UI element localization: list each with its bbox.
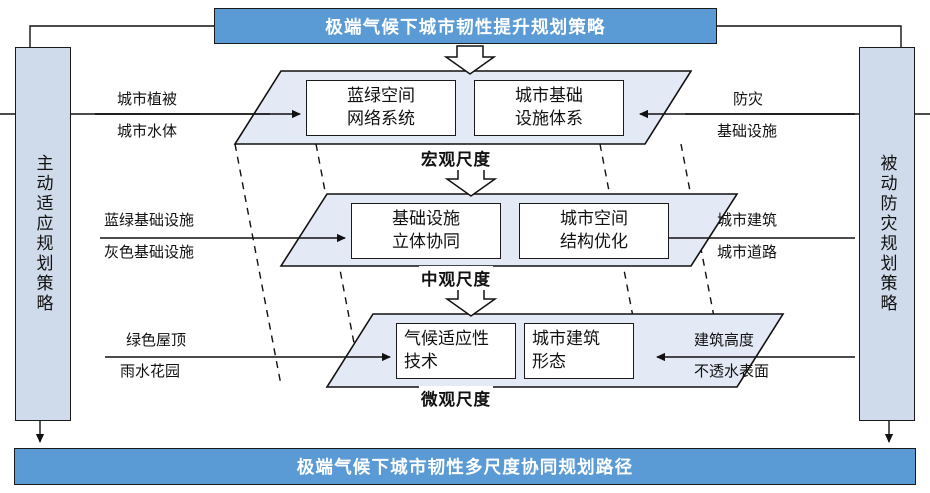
- micro-left-box-line2: 技术: [404, 351, 438, 374]
- meso-right-input-top: 城市建筑: [717, 209, 777, 230]
- macro-right-box: 城市基础 设施体系: [474, 80, 624, 136]
- meso-scale-label: 中观尺度: [419, 266, 493, 290]
- macro-right-box-line2: 设施体系: [515, 108, 583, 131]
- meso-left-box: 基础设施 立体协同: [351, 203, 501, 259]
- meso-left-box-line1: 基础设施: [392, 208, 460, 231]
- macro-right-input-bottom: 基础设施: [717, 120, 777, 141]
- hollow-arrow-macro-to-meso: [447, 168, 495, 196]
- micro-right-input-top: 建筑高度: [694, 329, 754, 350]
- macro-left-box-line2: 网络系统: [347, 108, 415, 131]
- hollow-arrow-meso-to-micro: [447, 288, 495, 316]
- micro-left-input-top: 绿色屋顶: [126, 329, 186, 350]
- micro-right-input-bottom: 不透水表面: [694, 360, 769, 381]
- meso-left-input-top: 蓝绿基础设施: [104, 209, 194, 230]
- micro-right-box-line1: 城市建筑: [532, 328, 600, 351]
- left-strategy-column-label: 主动适应规划策略: [31, 154, 56, 314]
- footer-banner: 极端气候下城市韧性多尺度协同规划路径: [14, 448, 916, 485]
- macro-left-input-bottom: 城市水体: [117, 120, 177, 141]
- macro-scale-label: 宏观尺度: [419, 146, 493, 170]
- right-strategy-column-label: 被动防灾规划策略: [875, 154, 900, 314]
- micro-left-box: 气候适应性 技术: [396, 323, 516, 379]
- macro-right-box-line1: 城市基础: [515, 85, 583, 108]
- connector-top-right: [717, 26, 901, 47]
- macro-left-box-line1: 蓝绿空间: [347, 85, 415, 108]
- left-strategy-column: 主动适应规划策略: [15, 47, 71, 421]
- header-banner: 极端气候下城市韧性提升规划策略: [214, 8, 717, 44]
- meso-left-input-bottom: 灰色基础设施: [104, 241, 194, 262]
- macro-left-input-top: 城市植被: [117, 88, 177, 109]
- micro-right-box-line2: 形态: [532, 351, 566, 374]
- micro-left-input-bottom: 雨水花园: [120, 360, 180, 381]
- micro-left-box-line1: 气候适应性: [404, 328, 489, 351]
- micro-scale-label: 微观尺度: [419, 386, 493, 410]
- micro-right-box: 城市建筑 形态: [524, 323, 634, 379]
- meso-right-box: 城市空间 结构优化: [519, 203, 669, 259]
- connector-top-left: [30, 26, 214, 47]
- hollow-arrow-top-to-macro: [446, 46, 494, 74]
- meso-left-box-line2: 立体协同: [392, 231, 460, 254]
- diagram-canvas: 极端气候下城市韧性提升规划策略 极端气候下城市韧性多尺度协同规划路径 主动适应规…: [0, 0, 930, 493]
- meso-right-input-bottom: 城市道路: [717, 241, 777, 262]
- meso-right-box-line2: 结构优化: [560, 231, 628, 254]
- right-strategy-column: 被动防灾规划策略: [859, 47, 915, 421]
- macro-left-box: 蓝绿空间 网络系统: [306, 80, 456, 136]
- meso-right-box-line1: 城市空间: [560, 208, 628, 231]
- macro-right-input-top: 防灾: [733, 88, 763, 109]
